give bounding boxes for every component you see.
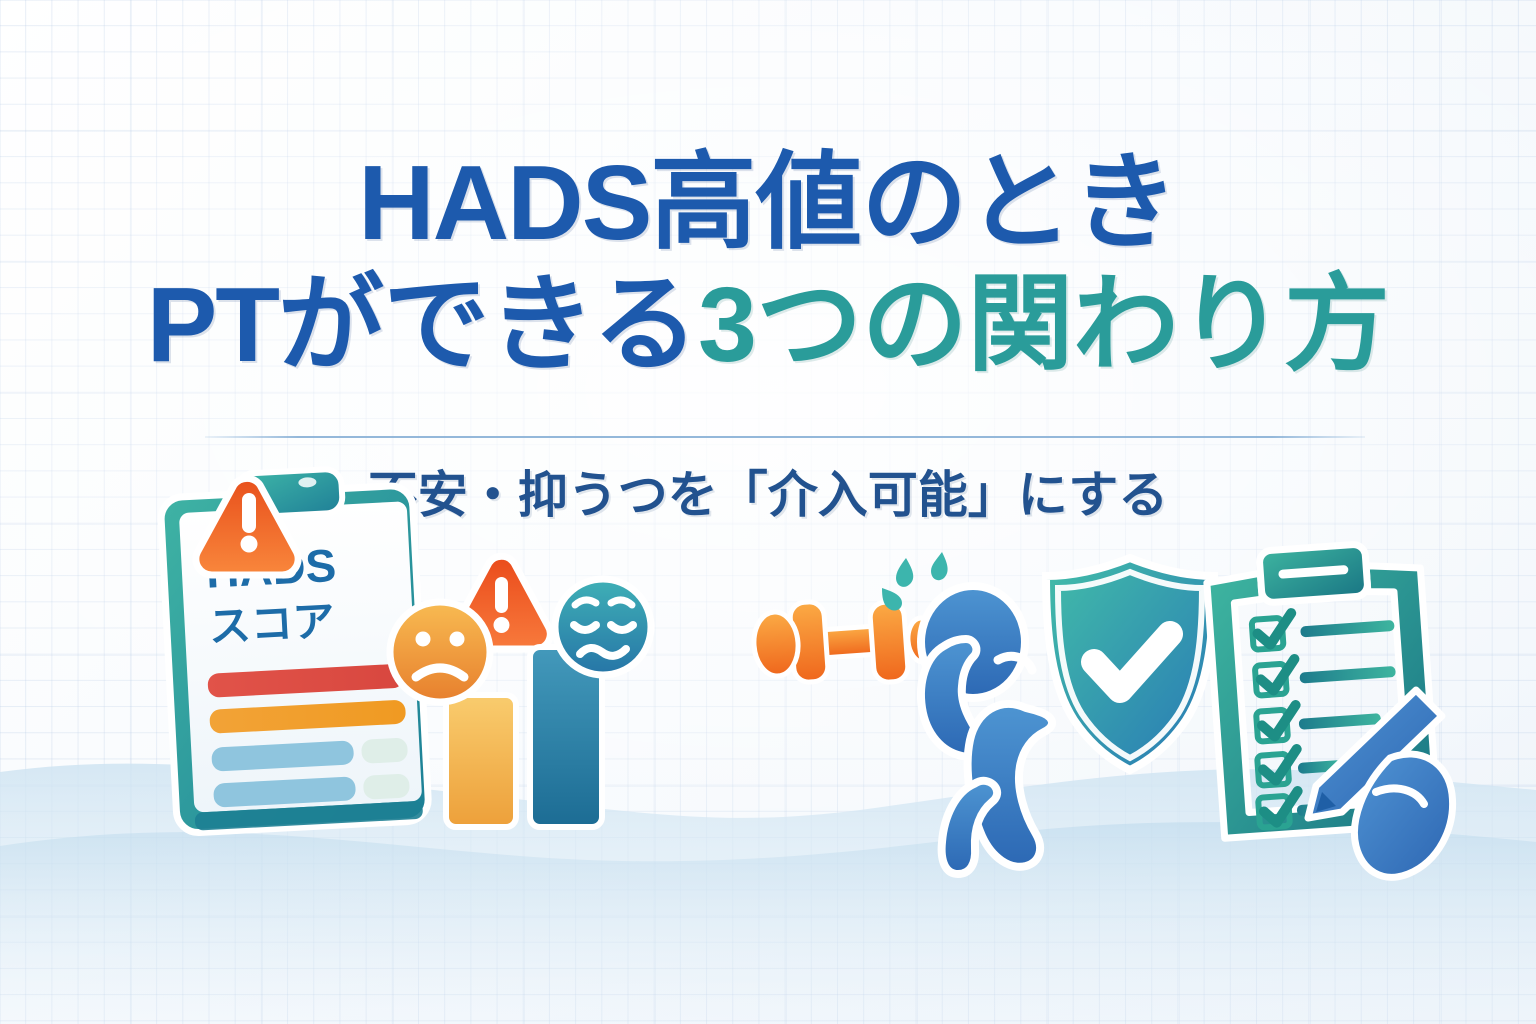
clipboard-title-jp: スコア	[208, 597, 336, 651]
sad-face-icon	[390, 602, 490, 702]
title-block: HADS高値のとき PTができる3つの関わり方	[0, 150, 1536, 378]
title-line1-en: HADS	[358, 144, 650, 262]
dumbbell-icon	[752, 601, 938, 683]
poster-canvas: HADS高値のとき PTができる3つの関わり方 不安・抑うつを「介入可能」にする	[0, 0, 1536, 1024]
crouching-person-icon	[921, 586, 1052, 874]
anxious-face-icon	[555, 579, 651, 675]
title-line2-teal: 3つの関わり方	[698, 266, 1389, 384]
title-line-2: PTができる3つの関わり方	[0, 272, 1536, 378]
title-line1-jp: 高値のとき	[650, 144, 1178, 262]
score-row-pale-2	[363, 773, 410, 799]
title-divider	[205, 436, 1365, 438]
shield-check-icon	[1046, 558, 1214, 770]
illustration-right	[730, 540, 1460, 890]
bar-anxiety	[446, 695, 516, 827]
title-line-1: HADS高値のとき	[0, 150, 1536, 256]
illustration-left: HADS スコア	[150, 455, 710, 885]
score-row-pale-1	[361, 737, 408, 763]
title-line2-en: PT	[147, 266, 278, 384]
title-line2-jp: ができる	[278, 266, 698, 384]
